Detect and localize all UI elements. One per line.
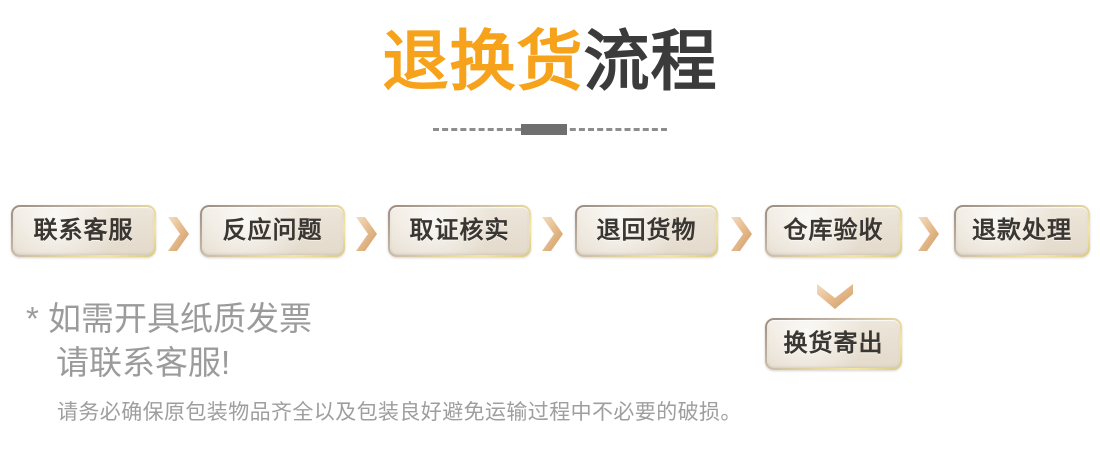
branch-box-exchange[interactable]: 换货寄出 bbox=[765, 318, 902, 370]
chevron-down-icon bbox=[815, 282, 855, 312]
chevron-right-icon bbox=[916, 215, 942, 253]
step-box-4[interactable]: 退回货物 bbox=[575, 205, 718, 257]
step-box-surface: 仓库验收 bbox=[767, 207, 900, 255]
step-box-surface: 换货寄出 bbox=[767, 320, 900, 368]
page-title: 退换货流程 bbox=[0, 28, 1100, 94]
step-box-label: 换货寄出 bbox=[784, 332, 884, 356]
step-box-label: 取证核实 bbox=[410, 219, 510, 243]
invoice-note-line-2: 请联系客服! bbox=[26, 341, 312, 385]
step-box-label: 退款处理 bbox=[972, 219, 1072, 243]
divider-center-block bbox=[521, 124, 567, 135]
step-box-surface: 退回货物 bbox=[577, 207, 716, 255]
invoice-note-line-1: * 如需开具纸质发票 bbox=[26, 297, 312, 341]
step-box-1[interactable]: 联系客服 bbox=[11, 205, 156, 257]
step-box-surface: 取证核实 bbox=[390, 207, 529, 255]
step-box-label: 反应问题 bbox=[223, 219, 323, 243]
title-divider bbox=[0, 122, 1100, 136]
page-title-accent: 退换货 bbox=[383, 24, 584, 98]
invoice-note: * 如需开具纸质发票 请联系客服! bbox=[26, 297, 312, 385]
step-box-surface: 退款处理 bbox=[956, 207, 1088, 255]
step-box-surface: 联系客服 bbox=[13, 207, 154, 255]
step-box-label: 联系客服 bbox=[34, 219, 134, 243]
chevron-right-icon bbox=[729, 215, 755, 253]
step-box-label: 仓库验收 bbox=[784, 219, 884, 243]
page-title-rest: 流程 bbox=[584, 24, 718, 98]
step-box-5[interactable]: 仓库验收 bbox=[765, 205, 902, 257]
chevron-right-icon bbox=[540, 215, 566, 253]
chevron-right-icon bbox=[354, 215, 380, 253]
chevron-right-icon bbox=[166, 215, 192, 253]
step-box-label: 退回货物 bbox=[597, 219, 697, 243]
step-box-6[interactable]: 退款处理 bbox=[954, 205, 1090, 257]
step-box-2[interactable]: 反应问题 bbox=[200, 205, 345, 257]
step-box-surface: 反应问题 bbox=[202, 207, 343, 255]
step-box-3[interactable]: 取证核实 bbox=[388, 205, 531, 257]
packaging-footnote: 请务必确保原包装物品齐全以及包装良好避免运输过程中不必要的破损。 bbox=[57, 398, 742, 428]
